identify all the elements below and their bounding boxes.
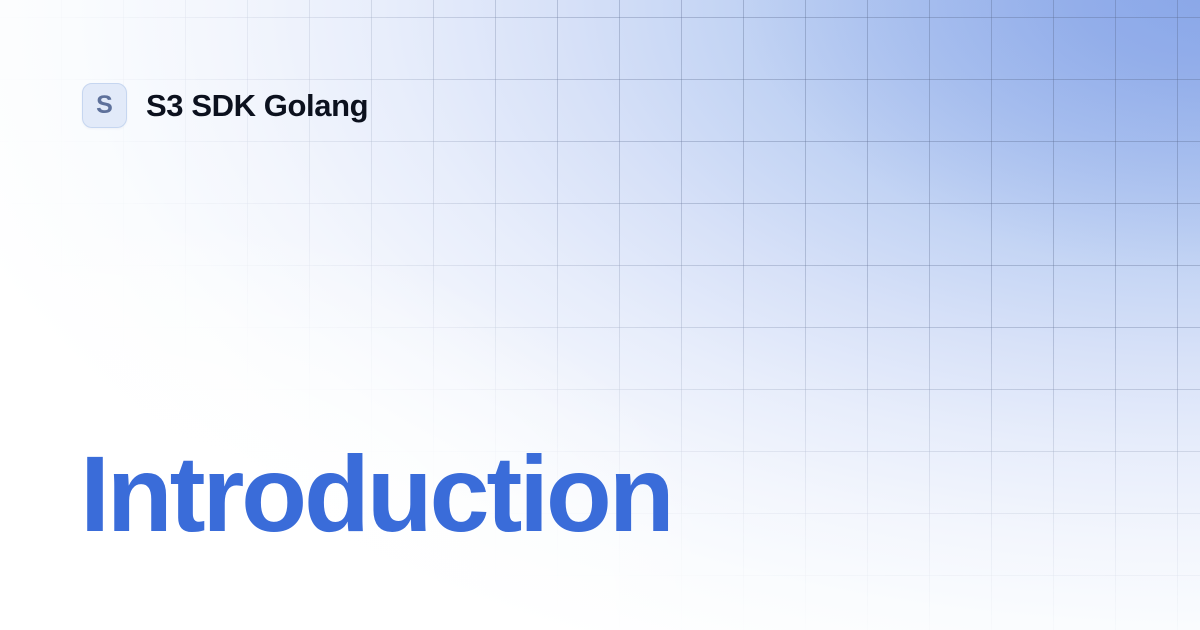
brand-row: S S3 SDK Golang [82, 83, 368, 128]
og-banner-card: S S3 SDK Golang Introduction [0, 0, 1200, 630]
page-title: Introduction [80, 440, 671, 548]
banner-content: S S3 SDK Golang Introduction [0, 0, 1200, 630]
brand-title: S3 SDK Golang [146, 90, 368, 121]
brand-badge-letter: S [96, 93, 113, 118]
s3-sdk-logo-icon: S [82, 83, 127, 128]
